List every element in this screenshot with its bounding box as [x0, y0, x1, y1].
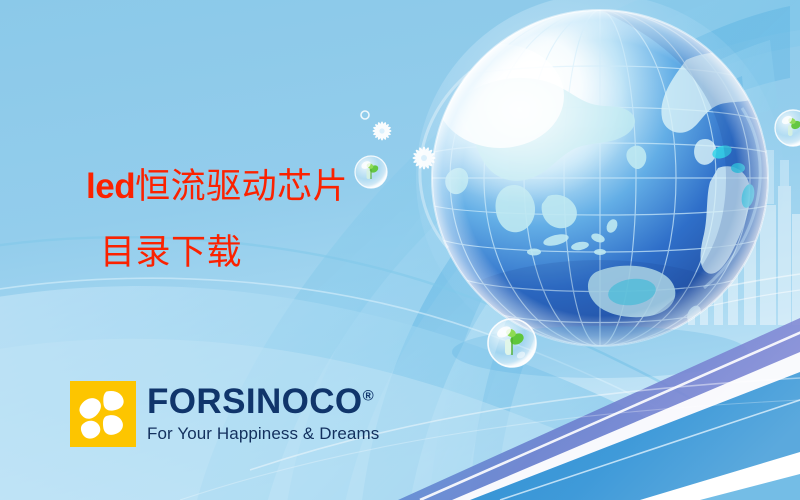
logo-tagline: For Your Happiness & Dreams	[147, 425, 379, 442]
promo-banner: led恒流驱动芯片 目录下载 FORSINOCO® For Your Happ	[0, 0, 800, 500]
logo-text-block: FORSINOCO® For Your Happiness & Dreams	[147, 381, 379, 442]
company-logo[interactable]: FORSINOCO® For Your Happiness & Dreams	[70, 381, 379, 447]
logo-wordmark-text: FORSINOCO	[147, 382, 363, 421]
registered-trademark-icon: ®	[363, 387, 374, 404]
logo-wordmark: FORSINOCO®	[147, 384, 374, 419]
pinwheel-petals-icon	[70, 381, 136, 447]
sparkle-star-lower	[412, 146, 435, 169]
pinwheel-flower-mark	[70, 381, 136, 447]
sparkle-star-upper	[372, 121, 391, 140]
sprout-bubble-bottom	[488, 319, 536, 367]
sprout-bubble-left	[355, 156, 387, 188]
